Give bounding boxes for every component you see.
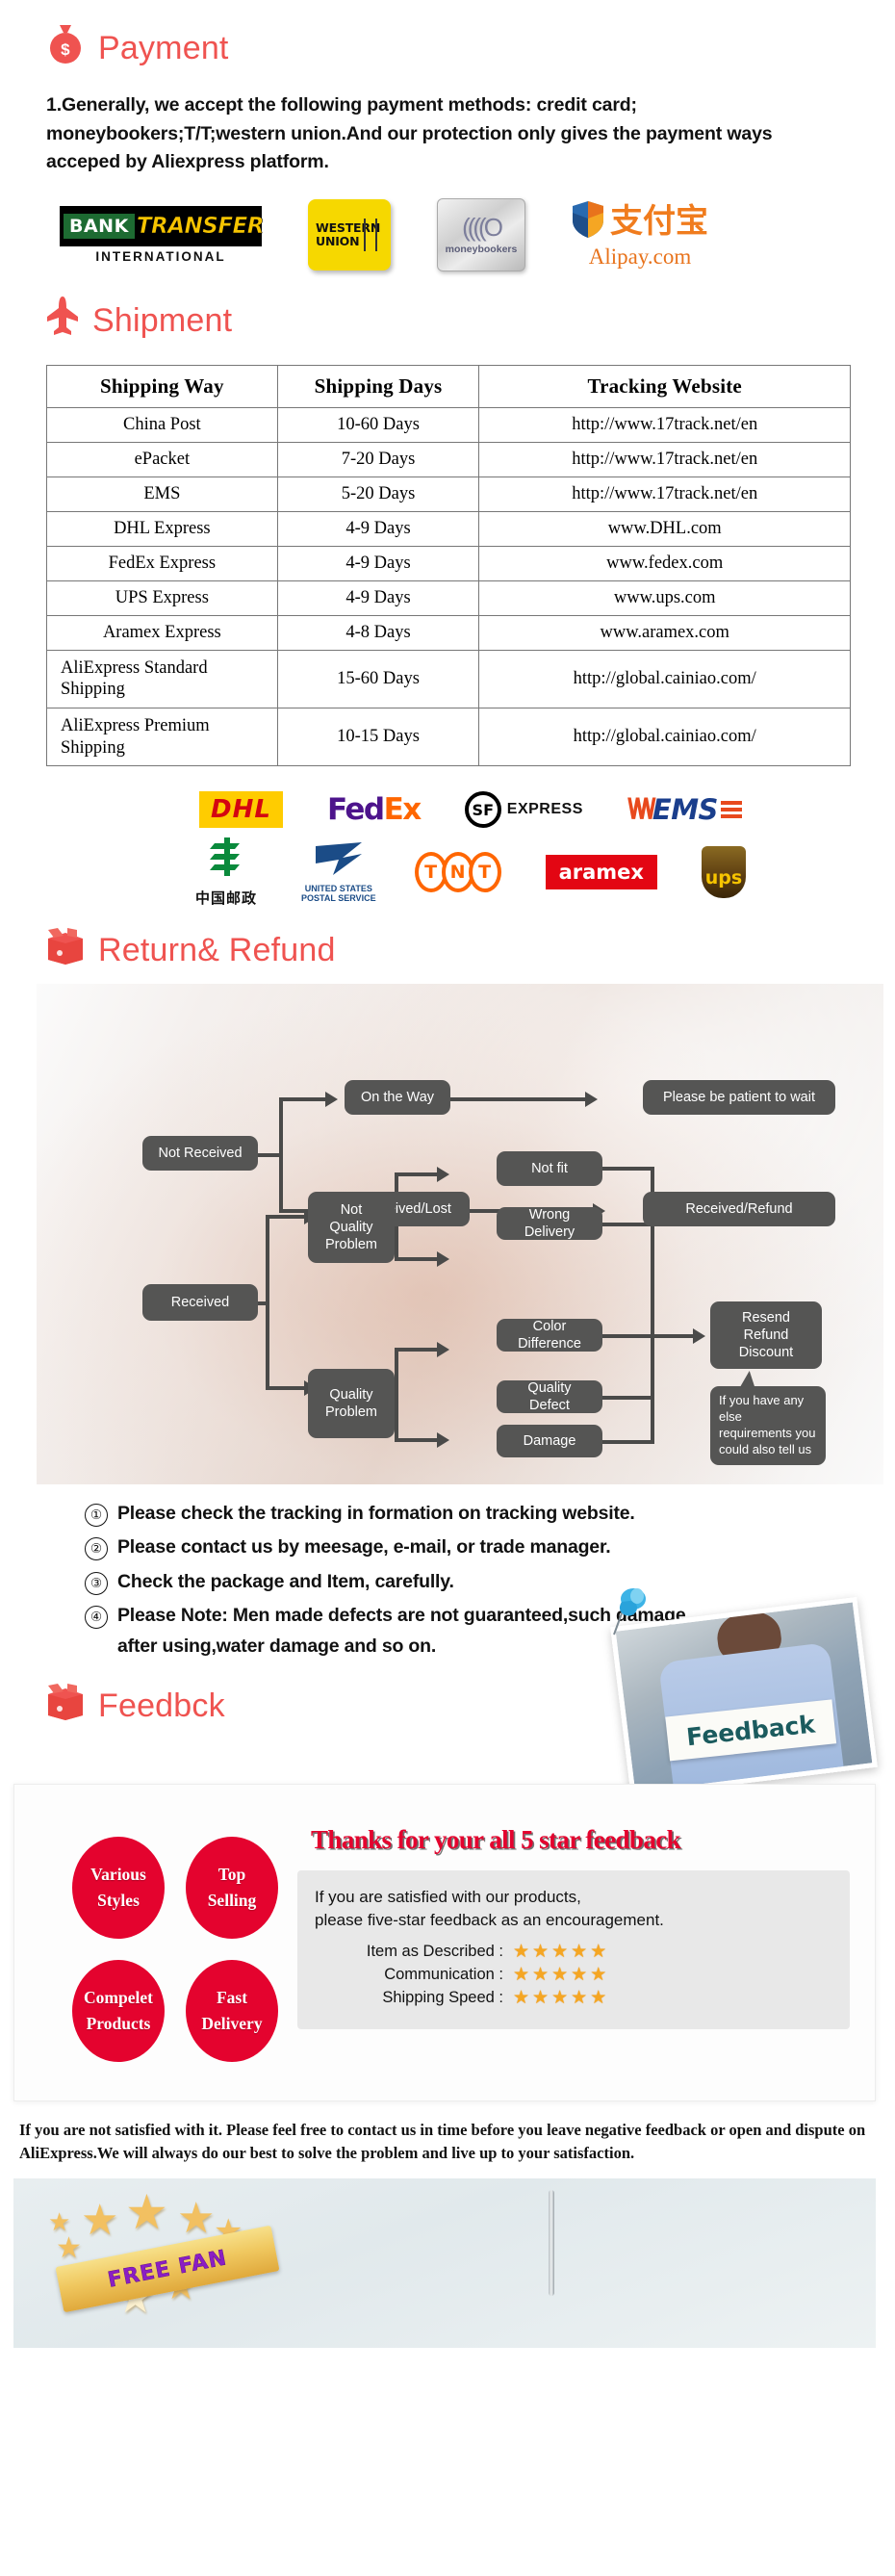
rating-intro-line2: please five-star feedback as an encourag… bbox=[315, 1909, 832, 1931]
rating-box: If you are satisfied with our products, … bbox=[297, 1870, 850, 2029]
flow-connector bbox=[279, 1097, 325, 1101]
cell-shipping-days: 5-20 Days bbox=[277, 477, 479, 511]
flow-node-received: Received bbox=[142, 1284, 258, 1321]
flow-connector bbox=[602, 1396, 652, 1400]
flow-callout-extra-requirements: If you have any else requirements you co… bbox=[710, 1386, 826, 1465]
star-icon: ★ bbox=[590, 1966, 606, 1984]
cell-shipping-way: AliExpress Premium Shipping bbox=[47, 708, 278, 766]
rating-row-item-as-described: Item as Described : ★ ★ ★ ★ ★ bbox=[315, 1943, 832, 1961]
note-text: Please Note: Men made defects are not gu… bbox=[117, 1602, 686, 1630]
flow-connector bbox=[651, 1334, 693, 1338]
open-box-icon bbox=[46, 927, 85, 974]
usps-line1: UNITED STATES bbox=[305, 884, 372, 893]
carrier-logos: DHL FedEx SF EXPRESS \/\/\/ EMS bbox=[46, 791, 895, 908]
ems-chevron-icon: \/\/\/ bbox=[627, 793, 652, 826]
flow-connector bbox=[395, 1348, 398, 1442]
flow-connector bbox=[395, 1172, 437, 1176]
star-icon: ★ bbox=[56, 2234, 82, 2263]
rating-stars: ★ ★ ★ ★ ★ bbox=[513, 1943, 606, 1961]
star-icon: ★ bbox=[513, 1943, 529, 1961]
star-icon: ★ bbox=[125, 2188, 168, 2236]
feedback-panel: Various Styles Top Selling Compelet Prod… bbox=[13, 1784, 876, 2101]
fedex-logo: FedEx bbox=[327, 792, 421, 827]
star-icon: ★ bbox=[571, 1989, 587, 2007]
cell-tracking-website: http://www.17track.net/en bbox=[479, 442, 851, 477]
table-row: DHL Express 4-9 Days www.DHL.com bbox=[47, 511, 851, 546]
sf-express-label: EXPRESS bbox=[507, 801, 583, 818]
note-text: Please contact us by meesage, e-mail, or… bbox=[117, 1533, 610, 1561]
table-row: China Post 10-60 Days http://www.17track… bbox=[47, 407, 851, 442]
product-description-page: $ Payment 1.Generally, we accept the fol… bbox=[0, 0, 895, 2576]
rating-stars: ★ ★ ★ ★ ★ bbox=[513, 1966, 606, 1984]
ems-bars-icon bbox=[721, 801, 742, 818]
flow-arrow bbox=[437, 1342, 449, 1357]
usps-line2: POSTAL SERVICE bbox=[301, 893, 376, 903]
free-fan-label: FREE FAN bbox=[106, 2246, 229, 2293]
usps-eagle-icon bbox=[314, 840, 364, 883]
bank-transfer-sub: INTERNATIONAL bbox=[60, 249, 262, 264]
flow-connector bbox=[266, 1215, 304, 1219]
ems-logo: \/\/\/ EMS bbox=[627, 793, 742, 826]
table-row: UPS Express 4-9 Days www.ups.com bbox=[47, 580, 851, 615]
column-header-shipping-days: Shipping Days bbox=[277, 365, 479, 407]
usps-logo: UNITED STATES POSTAL SERVICE bbox=[301, 840, 376, 904]
western-union-logo: WESTERN UNION bbox=[308, 199, 391, 270]
payment-body-text: 1.Generally, we accept the following pay… bbox=[46, 91, 806, 177]
note-text: Please check the tracking in formation o… bbox=[117, 1500, 635, 1528]
flow-node-not-quality-problem: Not Quality Problem bbox=[308, 1192, 395, 1263]
flow-connector bbox=[258, 1153, 283, 1157]
tnt-letter: T bbox=[469, 852, 501, 892]
table-row: AliExpress Standard Shipping 15-60 Days … bbox=[47, 650, 851, 708]
flow-connector bbox=[602, 1440, 652, 1444]
shipment-heading: Shipment bbox=[46, 296, 895, 346]
shipping-table: Shipping Way Shipping Days Tracking Webs… bbox=[46, 365, 851, 766]
star-icon: ★ bbox=[532, 1943, 549, 1961]
push-pin-icon bbox=[612, 1584, 652, 1640]
cell-shipping-way: ePacket bbox=[47, 442, 278, 477]
photo-feedback-sign-label: Feedback bbox=[685, 1710, 816, 1751]
cell-tracking-website: www.aramex.com bbox=[479, 615, 851, 650]
flow-connector bbox=[602, 1334, 652, 1338]
feature-badges: Various Styles Top Selling Compelet Prod… bbox=[72, 1837, 278, 2077]
flow-node-quality-problem: Quality Problem bbox=[308, 1369, 395, 1438]
free-fan-badge: ★ ★ ★ ★ ★ ★ ★ ★ ★ ★ FREE FAN bbox=[42, 2190, 302, 2334]
star-icon: ★ bbox=[590, 1989, 606, 2007]
flow-node-received-refund: Received/Refund bbox=[643, 1192, 835, 1226]
payment-section: $ Payment 1.Generally, we accept the fol… bbox=[0, 0, 895, 271]
shipment-section: Shipment Shipping Way Shipping Days Trac… bbox=[0, 271, 895, 908]
note-item: ② Please contact us by meesage, e-mail, … bbox=[85, 1533, 895, 1561]
flow-node-not-received: Not Received bbox=[142, 1136, 258, 1171]
note-item: ① Please check the tracking in formation… bbox=[85, 1500, 895, 1528]
flow-connector bbox=[395, 1348, 437, 1352]
cell-tracking-website: www.ups.com bbox=[479, 580, 851, 615]
flow-connector bbox=[395, 1438, 437, 1442]
cell-tracking-website: http://www.17track.net/en bbox=[479, 407, 851, 442]
ups-logo: ups bbox=[702, 846, 746, 898]
fedex-ex-label: Ex bbox=[384, 792, 421, 827]
ems-label: EMS bbox=[652, 793, 718, 826]
cell-shipping-days: 4-9 Days bbox=[277, 546, 479, 580]
table-row: ePacket 7-20 Days http://www.17track.net… bbox=[47, 442, 851, 477]
airplane-icon bbox=[46, 296, 79, 346]
cell-shipping-way: FedEx Express bbox=[47, 546, 278, 580]
china-post-mark-icon bbox=[207, 836, 245, 884]
star-icon: ★ bbox=[81, 2200, 118, 2242]
table-row: EMS 5-20 Days http://www.17track.net/en bbox=[47, 477, 851, 511]
cell-tracking-website: www.DHL.com bbox=[479, 511, 851, 546]
star-icon: ★ bbox=[571, 1943, 587, 1961]
cell-tracking-website: http://global.cainiao.com/ bbox=[479, 650, 851, 708]
moneybookers-arcs-icon: ((((O bbox=[462, 215, 500, 240]
aramex-logo: aramex bbox=[546, 855, 657, 889]
payment-logos: BANK TRANSFER INTERNATIONAL WESTERN UNIO… bbox=[46, 198, 895, 271]
note-number: ③ bbox=[85, 1572, 108, 1595]
star-icon: ★ bbox=[532, 1989, 549, 2007]
note-number: ④ bbox=[85, 1606, 108, 1629]
feedback-heading-label: Feedbck bbox=[98, 1687, 225, 1725]
badge-line1: Top bbox=[218, 1862, 246, 1888]
badge-line2: Products bbox=[87, 2011, 151, 2037]
star-icon: ★ bbox=[177, 2198, 215, 2240]
table-row: AliExpress Premium Shipping 10-15 Days h… bbox=[47, 708, 851, 766]
product-needle-image bbox=[549, 2190, 554, 2296]
star-icon: ★ bbox=[571, 1966, 587, 1984]
cell-tracking-website: http://www.17track.net/en bbox=[479, 477, 851, 511]
refund-section: Return& Refund Not Received On the Way P… bbox=[0, 908, 895, 1658]
flow-node-quality-defect: Quality Defect bbox=[497, 1380, 602, 1413]
cell-tracking-website: http://global.cainiao.com/ bbox=[479, 708, 851, 766]
rating-label: Item as Described : bbox=[315, 1943, 503, 1961]
star-icon: ★ bbox=[551, 1966, 568, 1984]
cell-shipping-way: DHL Express bbox=[47, 511, 278, 546]
flow-node-color-difference: Color Difference bbox=[497, 1319, 602, 1352]
cell-shipping-way: EMS bbox=[47, 477, 278, 511]
china-post-label: 中国邮政 bbox=[195, 888, 257, 908]
moneybookers-logo: ((((O moneybookers bbox=[437, 198, 525, 271]
flow-node-wrong-delivery: Wrong Delivery bbox=[497, 1207, 602, 1240]
flow-arrow bbox=[325, 1092, 338, 1107]
table-row: Aramex Express 4-8 Days www.aramex.com bbox=[47, 615, 851, 650]
rating-intro: If you are satisfied with our products, … bbox=[315, 1886, 832, 1931]
note-text: Check the package and Item, carefully. bbox=[117, 1568, 454, 1596]
badge-line2: Styles bbox=[97, 1888, 140, 1914]
rating-row-communication: Communication : ★ ★ ★ ★ ★ bbox=[315, 1966, 832, 1984]
carrier-logos-row-1: DHL FedEx SF EXPRESS \/\/\/ EMS bbox=[199, 791, 742, 828]
badge-line1: Various bbox=[90, 1862, 146, 1888]
cell-shipping-way: Aramex Express bbox=[47, 615, 278, 650]
star-icon: ★ bbox=[551, 1943, 568, 1961]
badge-top-selling: Top Selling bbox=[186, 1837, 278, 1939]
bank-transfer-main: BANK bbox=[64, 214, 135, 239]
star-icon: ★ bbox=[532, 1966, 549, 1984]
star-icon: ★ bbox=[513, 1989, 529, 2007]
cell-tracking-website: www.fedex.com bbox=[479, 546, 851, 580]
open-box-icon bbox=[46, 1683, 85, 1730]
rating-stars: ★ ★ ★ ★ ★ bbox=[513, 1989, 606, 2007]
badge-line1: Fast bbox=[217, 1985, 247, 2011]
note-number: ① bbox=[85, 1504, 108, 1527]
flow-arrow bbox=[437, 1167, 449, 1182]
table-row: FedEx Express 4-9 Days www.fedex.com bbox=[47, 546, 851, 580]
bank-transfer-accent: TRANSFER bbox=[137, 214, 264, 239]
western-union-bars-icon bbox=[364, 219, 377, 251]
flow-node-not-fit: Not fit bbox=[497, 1151, 602, 1186]
money-bag-icon: $ bbox=[46, 23, 85, 74]
flow-connector bbox=[602, 1167, 652, 1171]
feedback-right-column: Thanks for your all 5 star feedback If y… bbox=[297, 1814, 850, 2077]
flow-node-please-be-patient: Please be patient to wait bbox=[643, 1080, 835, 1115]
china-post-logo: 中国邮政 bbox=[195, 836, 257, 908]
cell-shipping-days: 7-20 Days bbox=[277, 442, 479, 477]
column-header-shipping-way: Shipping Way bbox=[47, 365, 278, 407]
feedback-footer-text: If you are not satisfied with it. Please… bbox=[13, 2119, 876, 2165]
table-header-row: Shipping Way Shipping Days Tracking Webs… bbox=[47, 365, 851, 407]
dhl-logo: DHL bbox=[199, 791, 283, 828]
refund-flowchart: Not Received On the Way Please be patien… bbox=[37, 984, 883, 1484]
alipay-logo: 支付宝 Alipay.com bbox=[572, 200, 708, 270]
rating-label: Shipping Speed : bbox=[315, 1989, 503, 2007]
flow-node-damage: Damage bbox=[497, 1425, 602, 1457]
flow-connector bbox=[450, 1097, 585, 1101]
cell-shipping-days: 15-60 Days bbox=[277, 650, 479, 708]
flow-arrow bbox=[585, 1092, 598, 1107]
bank-transfer-logo: BANK TRANSFER INTERNATIONAL bbox=[60, 206, 262, 264]
flow-arrow bbox=[437, 1251, 449, 1267]
cell-shipping-days: 4-9 Days bbox=[277, 511, 479, 546]
cell-shipping-days: 4-9 Days bbox=[277, 580, 479, 615]
shipment-heading-label: Shipment bbox=[92, 302, 232, 340]
alipay-shield-icon bbox=[572, 200, 604, 244]
badge-various-styles: Various Styles bbox=[72, 1837, 165, 1939]
flow-node-on-the-way: On the Way bbox=[345, 1080, 450, 1115]
sf-mark: SF bbox=[465, 791, 501, 828]
flow-connector bbox=[266, 1386, 304, 1390]
star-icon: ★ bbox=[513, 1966, 529, 1984]
badge-fast-delivery: Fast Delivery bbox=[186, 1960, 278, 2062]
flow-arrow bbox=[437, 1432, 449, 1448]
refund-heading-label: Return& Refund bbox=[98, 932, 336, 969]
rating-row-shipping-speed: Shipping Speed : ★ ★ ★ ★ ★ bbox=[315, 1989, 832, 2007]
svg-text:$: $ bbox=[61, 40, 70, 59]
flow-arrow bbox=[693, 1328, 705, 1344]
note-item: ③ Check the package and Item, carefully. bbox=[85, 1568, 895, 1596]
badge-line1: Compelet bbox=[84, 1985, 153, 2011]
column-header-tracking-website: Tracking Website bbox=[479, 365, 851, 407]
rating-label: Communication : bbox=[315, 1966, 503, 1984]
tnt-logo: T N T bbox=[421, 852, 501, 892]
moneybookers-label: moneybookers bbox=[446, 244, 518, 255]
note-number: ② bbox=[85, 1537, 108, 1560]
cell-shipping-days: 4-8 Days bbox=[277, 615, 479, 650]
cell-shipping-way: UPS Express bbox=[47, 580, 278, 615]
badge-line2: Delivery bbox=[201, 2011, 262, 2037]
thanks-headline: Thanks for your all 5 star feedback bbox=[311, 1825, 850, 1855]
payment-heading: $ Payment bbox=[46, 23, 895, 74]
flow-connector bbox=[395, 1257, 437, 1261]
carrier-logos-row-2: 中国邮政 UNITED STATES POSTAL SERVICE T bbox=[195, 836, 746, 908]
feedback-section: Feedbck Feedback Various Styles bbox=[0, 1658, 895, 2348]
flow-node-resend-refund-discount: Resend Refund Discount bbox=[710, 1301, 822, 1369]
cell-shipping-way: AliExpress Standard Shipping bbox=[47, 650, 278, 708]
alipay-com-label: Alipay.com bbox=[589, 245, 691, 270]
cell-shipping-way: China Post bbox=[47, 407, 278, 442]
fedex-fed-label: Fed bbox=[327, 792, 384, 827]
star-icon: ★ bbox=[551, 1989, 568, 2007]
sf-express-logo: SF EXPRESS bbox=[465, 791, 583, 828]
rating-rows: Item as Described : ★ ★ ★ ★ ★ Communicat… bbox=[315, 1943, 832, 2007]
star-icon: ★ bbox=[48, 2209, 70, 2234]
alipay-cn-label: 支付宝 bbox=[610, 205, 708, 238]
refund-heading: Return& Refund bbox=[46, 927, 895, 974]
payment-heading-label: Payment bbox=[98, 30, 229, 67]
bottom-banner: ★ ★ ★ ★ ★ ★ ★ ★ ★ ★ FREE FAN bbox=[13, 2178, 876, 2348]
badge-compelet-products: Compelet Products bbox=[72, 1960, 165, 2062]
star-icon: ★ bbox=[590, 1943, 606, 1961]
cell-shipping-days: 10-15 Days bbox=[277, 708, 479, 766]
cell-shipping-days: 10-60 Days bbox=[277, 407, 479, 442]
badge-line2: Selling bbox=[208, 1888, 257, 1914]
rating-intro-line1: If you are satisfied with our products, bbox=[315, 1886, 832, 1908]
usps-label: UNITED STATES POSTAL SERVICE bbox=[301, 885, 376, 904]
